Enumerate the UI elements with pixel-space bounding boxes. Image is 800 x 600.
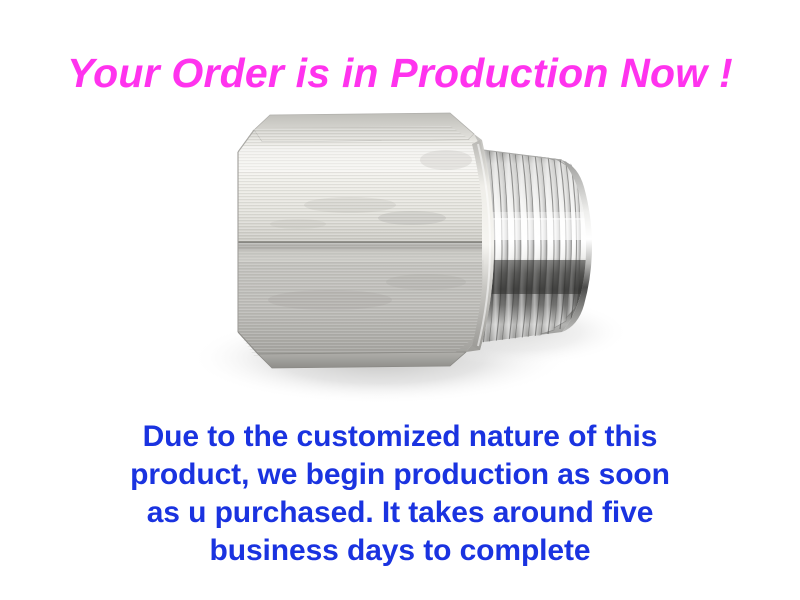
- hex-bottom-chamfer: [258, 352, 466, 368]
- disclaimer-line-4: business days to complete: [0, 532, 800, 570]
- promo-banner: Your Order is in Production Now !: [0, 0, 800, 600]
- disclaimer-line-3: as u purchased. It takes around five: [0, 494, 800, 532]
- page-title: Your Order is in Production Now !: [0, 52, 800, 95]
- disclaimer-line-1: Due to the customized nature of this: [0, 418, 800, 456]
- hex-pipe-adapter-illustration: [150, 100, 670, 420]
- disclaimer-text: Due to the customized nature of this pro…: [0, 418, 800, 570]
- product-image: [150, 100, 670, 420]
- hex-body: [230, 113, 494, 368]
- disclaimer-line-2: product, we begin production as soon: [0, 456, 800, 494]
